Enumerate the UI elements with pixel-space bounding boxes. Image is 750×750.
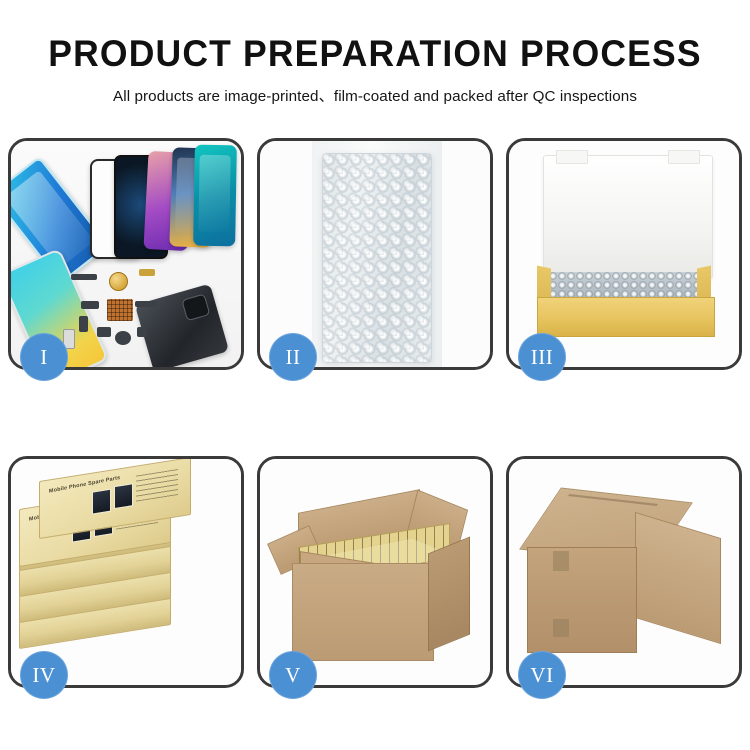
bubble-wrap-layer-in-box [549,272,701,300]
step-badge-3: III [518,333,566,381]
process-step-panel-3: III [506,138,742,370]
spare-part-speaker [115,331,131,345]
retail-box-spec-lines-upper [136,469,178,502]
spare-part-camera [97,327,111,337]
bubble-wrap-pouch [322,153,432,363]
process-step-panel-6: VI [506,456,742,688]
spare-part-flex-2 [79,316,88,332]
spare-part-connector [81,301,99,309]
process-step-panel-4: Mobile Phone Spare Parts Mobile Phone Sp… [8,456,244,688]
spare-part-flex-3 [135,301,157,307]
step-badge-1: I [20,333,68,381]
spare-part-button [137,327,147,337]
inner-box-front-wall [537,297,715,337]
step-badge-2: II [269,333,317,381]
carton-side-face [428,537,470,652]
page-title: PRODUCT PREPARATION PROCESS [15,0,735,75]
spare-part-bracket [139,269,155,276]
spare-part-chip [107,299,133,321]
sealed-carton-front-face [527,547,637,653]
spare-part-flex-1 [71,274,97,280]
sealed-carton-side-face [635,512,721,644]
process-step-grid: I II III Mobile Phone Spar [8,138,742,738]
inner-box-lid [543,155,713,279]
process-step-panel-2: II [257,138,493,370]
retail-box-window-upper-b [114,483,133,509]
step-badge-6: VI [518,651,566,699]
carton-front-face [292,563,434,661]
page-subtitle: All products are image-printed、film-coat… [0,75,750,106]
phone-screen-green [193,145,237,247]
retail-box-stack: Mobile Phone Spare Parts Mobile Phone Sp… [17,475,241,675]
step-badge-4: IV [20,651,68,699]
phone-back-housing [135,284,229,367]
sealed-carton-tape-lower [553,619,569,637]
step-badge-5: V [269,651,317,699]
sealed-carton-tape-upper [553,551,569,571]
spare-part-coin [109,272,128,291]
retail-box-window-upper-a [92,489,111,515]
process-step-panel-5: V [257,456,493,688]
page-header: PRODUCT PREPARATION PROCESS All products… [0,0,750,130]
process-step-panel-1: I [8,138,244,370]
